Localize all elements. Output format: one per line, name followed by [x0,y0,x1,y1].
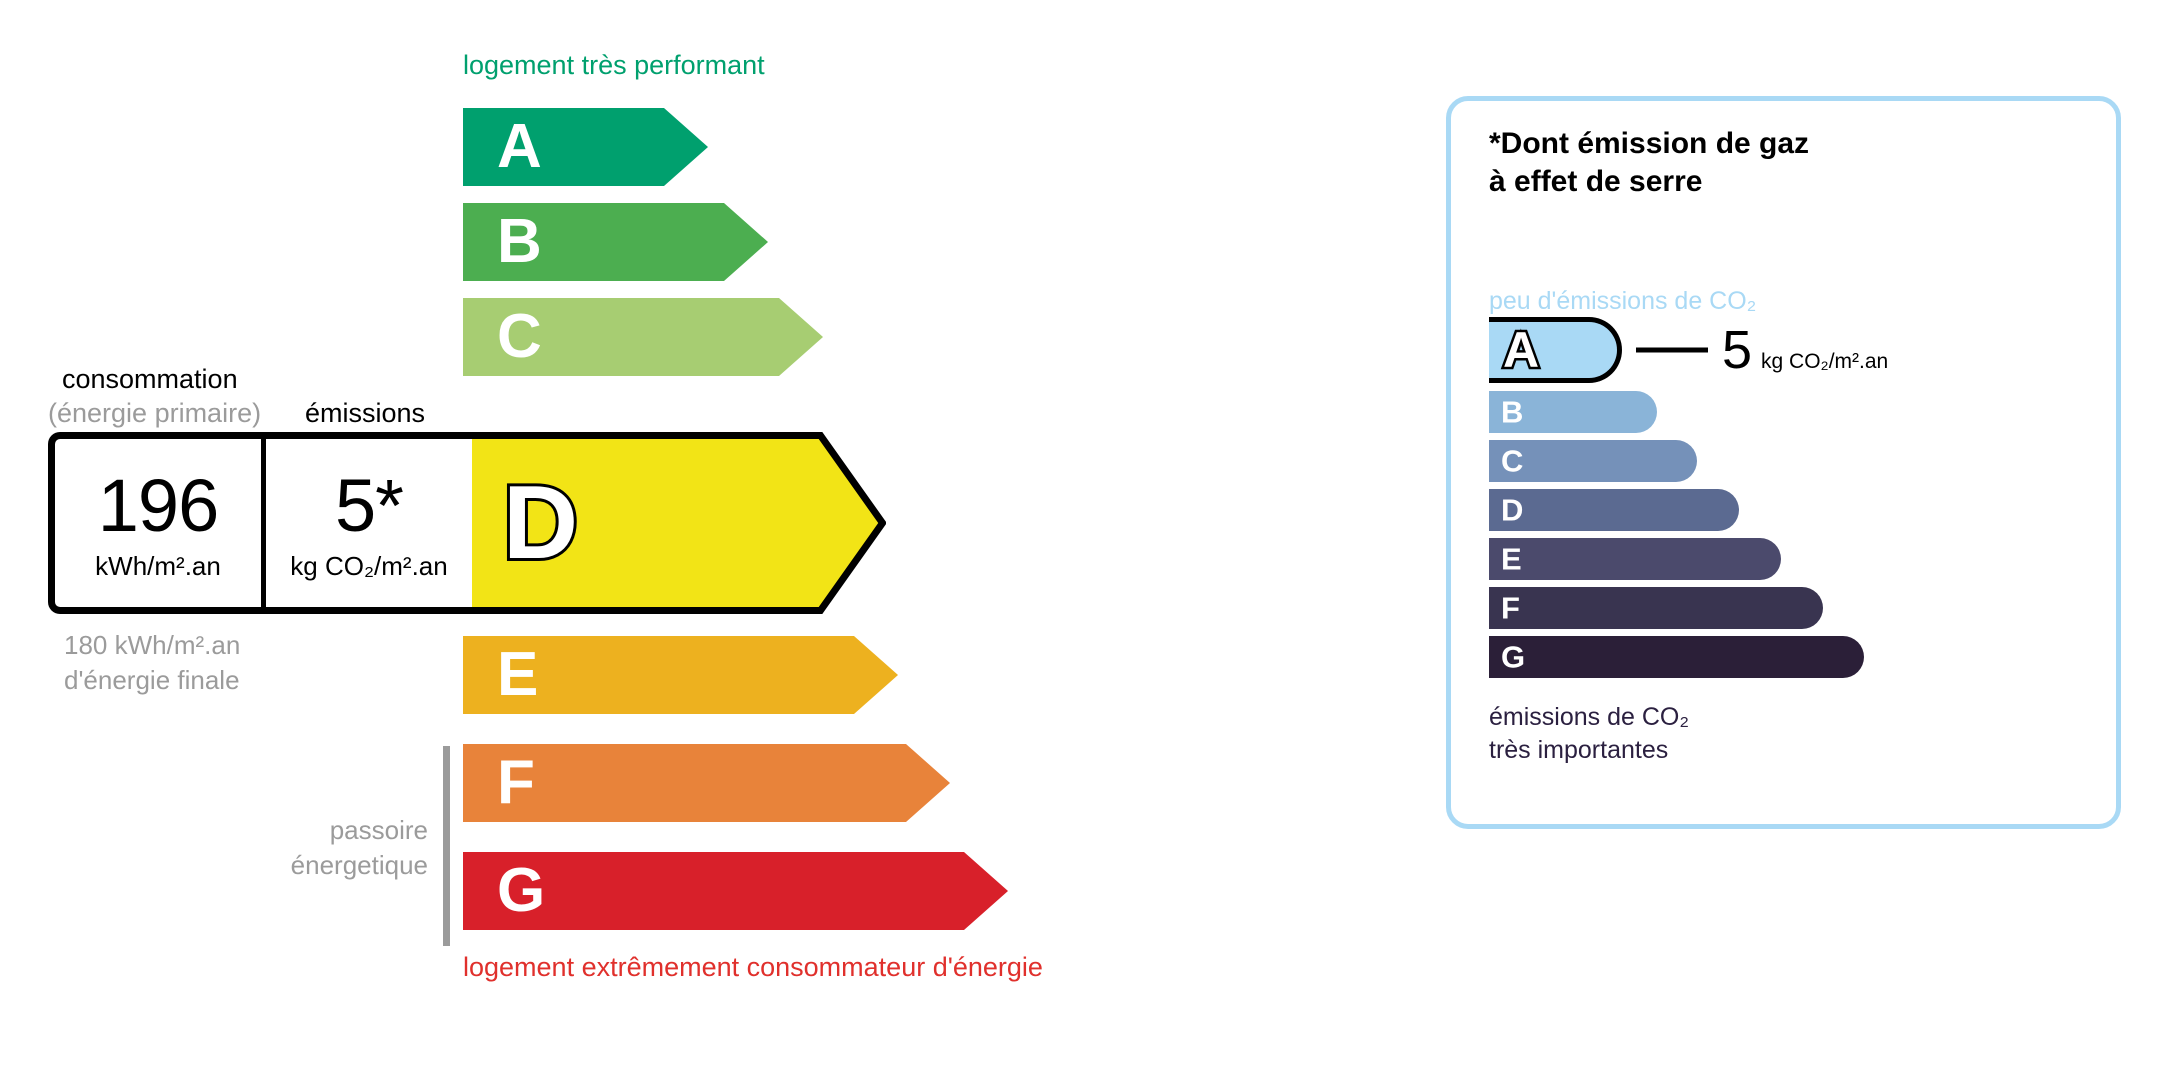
emission-value: 5* [335,470,403,543]
energy-grade-letter-e: E [497,644,539,706]
co2-grade-letter-e: E [1501,544,1522,575]
co2-grade-row-c: C [1489,440,2089,482]
emission-value-cell: 5* kg CO₂/m².an [266,439,472,607]
consumption-unit: kWh/m².an [95,551,221,582]
energy-grade-row-g: G [463,852,1008,930]
co2-high-caption-line2: très importantes [1489,734,1689,767]
co2-value: 5 [1722,323,1752,377]
co2-grade-row-e: E [1489,538,2089,580]
co2-grade-row-f: F [1489,587,2089,629]
co2-high-caption: émissions de CO₂ très importantes [1489,701,1689,767]
co2-grade-row-a: A5kg CO₂/m².an [1489,317,2089,383]
co2-title-line1: *Dont émission de gaz [1489,125,1809,163]
co2-grade-row-g: G [1489,636,2089,678]
passoire-marker-bar [443,746,450,946]
passoire-label-line1: passoire [200,813,428,848]
energy-grade-letter-g: G [497,860,546,922]
emission-unit: kg CO₂/m².an [290,551,447,582]
co2-grade-bar-g [1489,636,1864,678]
value-readout-box: 196 kWh/m².an 5* kg CO₂/m².an [48,432,472,614]
energy-grade-letter-d: D [503,471,579,575]
energy-grade-arrow-f [463,744,950,822]
co2-grade-bar-f [1489,587,1823,629]
final-energy-line2: d'énergie finale [64,663,240,698]
consumption-value-cell: 196 kWh/m².an [55,439,266,607]
passoire-label: passoire énergetique [200,813,428,882]
final-energy-line1: 180 kWh/m².an [64,628,240,663]
dpe-diagram: logement très performant ABCDEFG passoir… [0,0,2169,1079]
co2-grade-bar-d [1489,489,1739,531]
co2-title-line2: à effet de serre [1489,163,1809,201]
energy-low-caption: logement très performant [463,50,765,81]
consumption-value: 196 [98,470,218,543]
energy-grade-row-d: D [463,432,886,614]
co2-grade-bar-e [1489,538,1781,580]
energy-grade-row-b: B [463,203,768,281]
energy-grade-row-f: F [463,744,950,822]
co2-value-connector-line [1636,348,1708,353]
passoire-label-line2: énergetique [200,848,428,883]
energy-grade-letter-a: A [497,116,542,178]
co2-grade-letter-a: A [1503,325,1539,375]
co2-emissions-panel: *Dont émission de gaz à effet de serre p… [1446,96,2121,829]
energy-grade-row-e: E [463,636,898,714]
energy-grade-row-a: A [463,108,708,186]
co2-grade-letter-g: G [1501,642,1525,673]
co2-grade-row-d: D [1489,489,2089,531]
co2-grade-letter-b: B [1501,397,1523,428]
energy-grade-letter-c: C [497,306,542,368]
co2-high-caption-line1: émissions de CO₂ [1489,701,1689,734]
co2-grade-list: A5kg CO₂/m².anBCDEFG [1489,317,2089,685]
energy-consumption-panel: logement très performant ABCDEFG passoir… [0,0,1400,1079]
co2-panel-title: *Dont émission de gaz à effet de serre [1489,125,1809,202]
co2-grade-letter-c: C [1501,446,1523,477]
co2-grade-letter-d: D [1501,495,1523,526]
energy-grade-row-c: C [463,298,823,376]
co2-grade-row-b: B [1489,391,2089,433]
co2-value-unit: kg CO₂/m².an [1761,350,1888,374]
co2-value-readout: 5kg CO₂/m².an [1722,323,1888,377]
co2-low-caption: peu d'émissions de CO₂ [1489,287,1756,316]
energy-high-caption: logement extrêmement consommateur d'éner… [463,952,1043,983]
final-energy-label: 180 kWh/m².an d'énergie finale [64,628,240,697]
primary-energy-label: (énergie primaire) [48,398,261,429]
emissions-label: émissions [305,398,425,429]
co2-grade-letter-f: F [1501,593,1520,624]
energy-grade-letter-f: F [497,752,535,814]
consumption-label: consommation [62,364,238,395]
energy-grade-letter-b: B [497,211,542,273]
